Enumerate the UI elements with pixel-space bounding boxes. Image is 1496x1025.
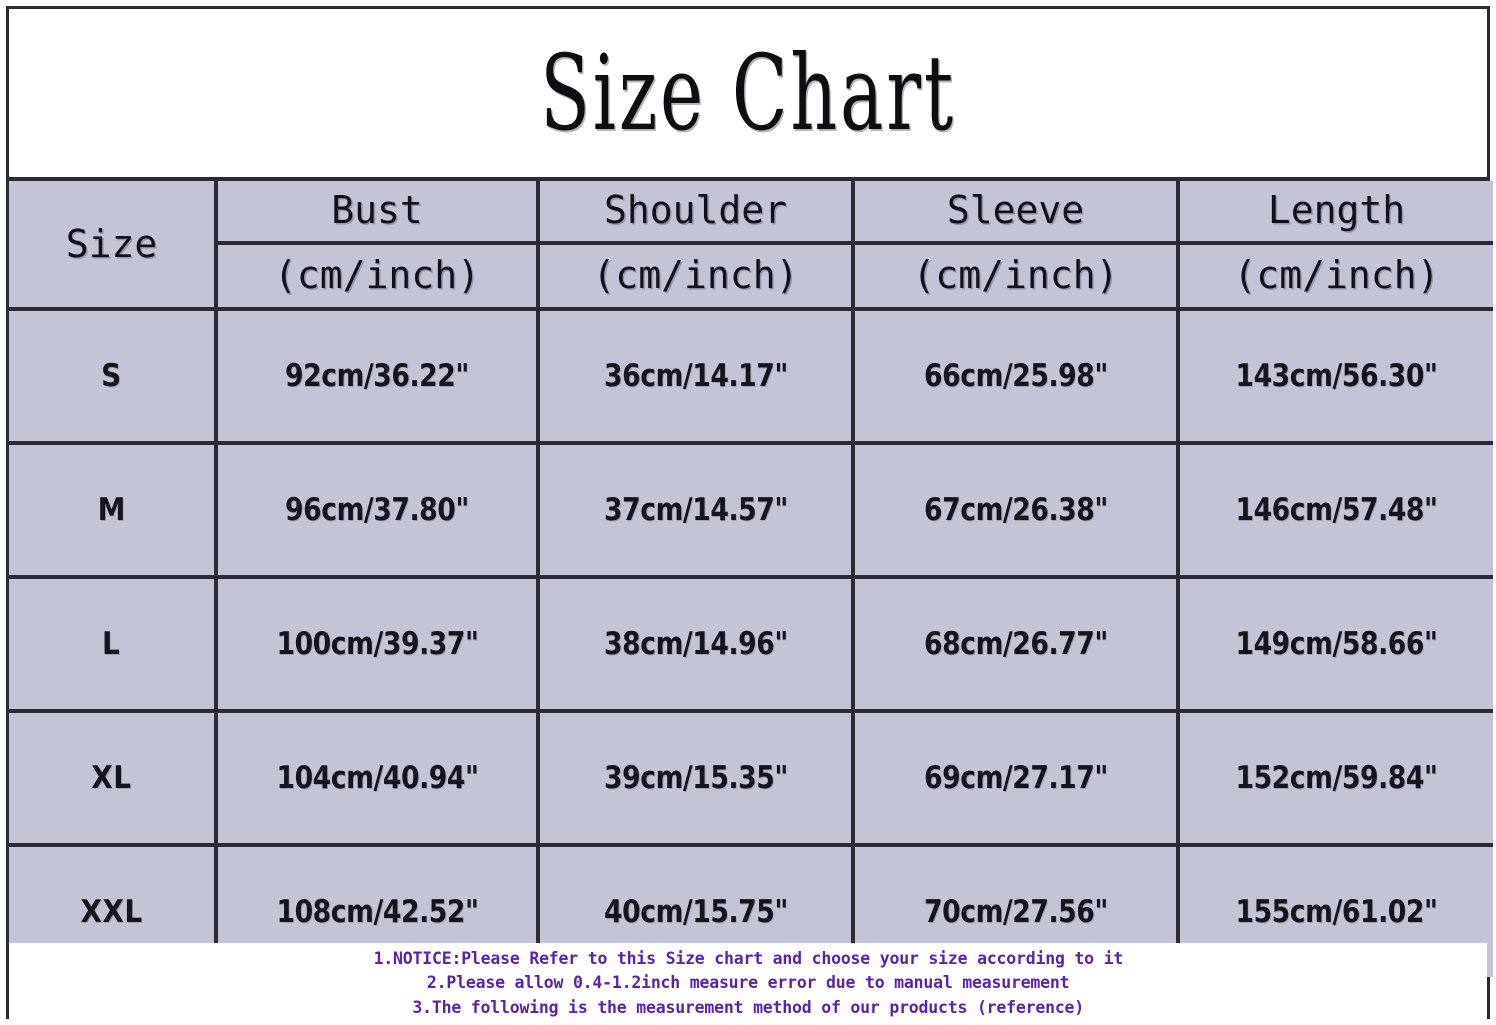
value-length: 155cm/61.02" — [1235, 894, 1437, 930]
title-band: Size Chart — [9, 9, 1487, 177]
table-row: XL 104cm/40.94" 39cm/15.35" 69cm/27.17" … — [9, 711, 1493, 845]
cell-sleeve: 66cm/25.98" — [853, 309, 1178, 443]
table-row: S 92cm/36.22" 36cm/14.17" 66cm/25.98" 14… — [9, 309, 1493, 443]
value-length: 143cm/56.30" — [1235, 358, 1437, 394]
header-unit-shoulder: (cm/inch) — [593, 253, 799, 297]
header-unit-cell-length: (cm/inch) — [1178, 243, 1493, 309]
header-unit-cell-bust: (cm/inch) — [216, 243, 538, 309]
cell-length: 152cm/59.84" — [1178, 711, 1493, 845]
table-row: M 96cm/37.80" 37cm/14.57" 67cm/26.38" 14… — [9, 443, 1493, 577]
cell-size: S — [9, 309, 216, 443]
notice-line-3: 3.The following is the measurement metho… — [412, 996, 1084, 1020]
header-unit-cell-sleeve: (cm/inch) — [853, 243, 1178, 309]
value-size: XL — [91, 760, 131, 796]
value-bust: 100cm/39.37" — [276, 626, 478, 662]
cell-shoulder: 36cm/14.17" — [538, 309, 853, 443]
cell-bust: 100cm/39.37" — [216, 577, 538, 711]
cell-shoulder: 39cm/15.35" — [538, 711, 853, 845]
cell-shoulder: 38cm/14.96" — [538, 577, 853, 711]
value-shoulder: 36cm/14.17" — [604, 358, 788, 394]
cell-size: L — [9, 577, 216, 711]
value-length: 152cm/59.84" — [1235, 760, 1437, 796]
value-sleeve: 66cm/25.98" — [924, 358, 1108, 394]
header-unit-sleeve: (cm/inch) — [913, 253, 1119, 297]
value-size: L — [102, 626, 120, 662]
notice-block: 1.NOTICE:Please Refer to this Size chart… — [9, 943, 1487, 1022]
value-length: 149cm/58.66" — [1235, 626, 1437, 662]
cell-sleeve: 68cm/26.77" — [853, 577, 1178, 711]
cell-sleeve: 69cm/27.17" — [853, 711, 1178, 845]
cell-bust: 96cm/37.80" — [216, 443, 538, 577]
size-chart-page: Size Chart Size Bust — [0, 0, 1496, 1025]
header-cell-bust: Bust — [216, 181, 538, 243]
size-table-container: Size Bust Shoulder Sleeve Length — [9, 177, 1487, 943]
value-length: 146cm/57.48" — [1235, 492, 1437, 528]
cell-bust: 104cm/40.94" — [216, 711, 538, 845]
header-label-size: Size — [66, 222, 158, 266]
notice-line-1: 1.NOTICE:Please Refer to this Size chart… — [373, 947, 1123, 971]
cell-bust: 92cm/36.22" — [216, 309, 538, 443]
cell-length: 146cm/57.48" — [1178, 443, 1493, 577]
header-unit-length: (cm/inch) — [1234, 253, 1440, 297]
size-table: Size Bust Shoulder Sleeve Length — [9, 181, 1493, 977]
cell-length: 149cm/58.66" — [1178, 577, 1493, 711]
value-shoulder: 38cm/14.96" — [604, 626, 788, 662]
value-size: XXL — [80, 894, 142, 930]
value-bust: 96cm/37.80" — [285, 492, 469, 528]
value-bust: 92cm/36.22" — [285, 358, 469, 394]
chart-frame: Size Chart Size Bust — [6, 6, 1490, 1019]
value-bust: 108cm/42.52" — [276, 894, 478, 930]
value-shoulder: 37cm/14.57" — [604, 492, 788, 528]
value-sleeve: 68cm/26.77" — [924, 626, 1108, 662]
header-cell-length: Length — [1178, 181, 1493, 243]
header-label-shoulder: Shoulder — [604, 188, 787, 232]
value-sleeve: 70cm/27.56" — [924, 894, 1108, 930]
value-size: S — [101, 358, 122, 394]
header-cell-sleeve: Sleeve — [853, 181, 1178, 243]
table-header-row-top: Size Bust Shoulder Sleeve Length — [9, 181, 1493, 243]
cell-length: 143cm/56.30" — [1178, 309, 1493, 443]
header-unit-bust: (cm/inch) — [274, 253, 480, 297]
header-label-sleeve: Sleeve — [947, 188, 1084, 232]
header-cell-size: Size — [9, 181, 216, 309]
page-title: Size Chart — [540, 41, 956, 145]
header-cell-shoulder: Shoulder — [538, 181, 853, 243]
cell-size: XL — [9, 711, 216, 845]
value-shoulder: 40cm/15.75" — [604, 894, 788, 930]
header-unit-cell-shoulder: (cm/inch) — [538, 243, 853, 309]
cell-sleeve: 67cm/26.38" — [853, 443, 1178, 577]
cell-size: M — [9, 443, 216, 577]
table-row: L 100cm/39.37" 38cm/14.96" 68cm/26.77" 1… — [9, 577, 1493, 711]
header-label-length: Length — [1268, 188, 1405, 232]
table-header-row-units: (cm/inch) (cm/inch) (cm/inch) (cm/inch) — [9, 243, 1493, 309]
cell-shoulder: 37cm/14.57" — [538, 443, 853, 577]
value-sleeve: 67cm/26.38" — [924, 492, 1108, 528]
value-size: M — [97, 492, 125, 528]
notice-line-2: 2.Please allow 0.4-1.2inch measure error… — [427, 971, 1069, 995]
header-label-bust: Bust — [331, 188, 423, 232]
value-shoulder: 39cm/15.35" — [604, 760, 788, 796]
value-bust: 104cm/40.94" — [276, 760, 478, 796]
value-sleeve: 69cm/27.17" — [924, 760, 1108, 796]
